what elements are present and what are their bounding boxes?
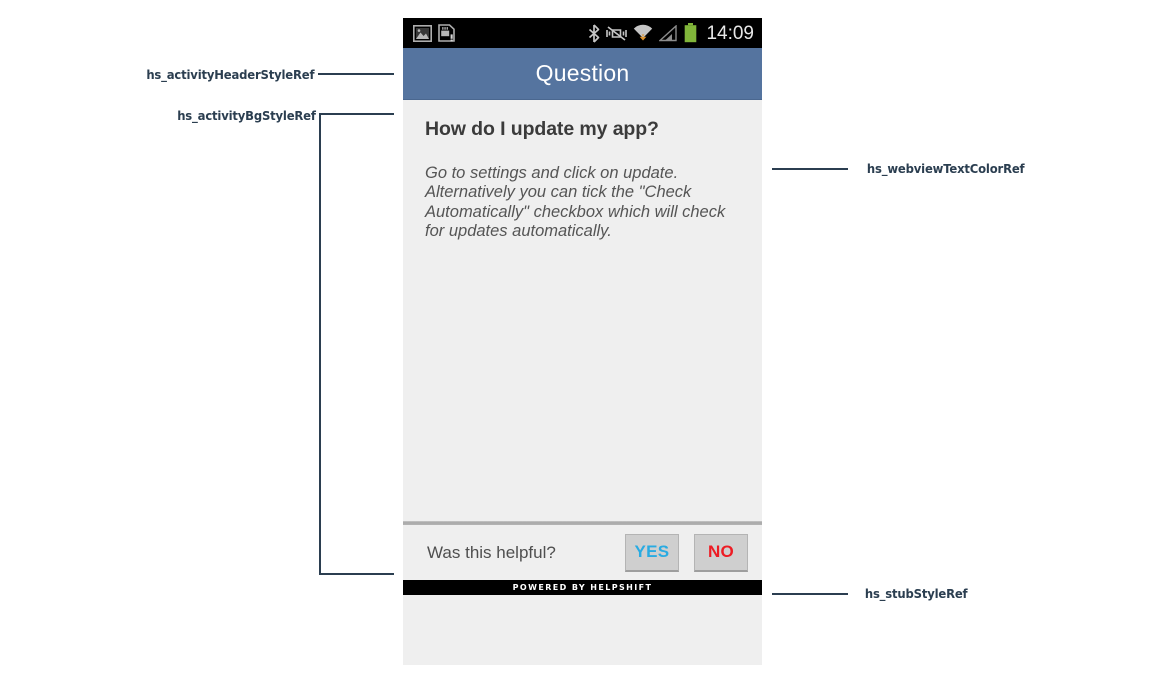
helpful-stub: Was this helpful? YES NO bbox=[403, 525, 762, 580]
annotation-label-hs-activitybgstyleref: hs_activityBgStyleRef bbox=[177, 108, 316, 123]
cellular-signal-icon bbox=[659, 25, 678, 42]
battery-icon bbox=[684, 23, 697, 43]
phone-screen: 14:09 Question How do I update my app? G… bbox=[403, 18, 762, 665]
page-title: Question bbox=[536, 60, 630, 87]
annotation-bracket-bottom-hs-activitybgstyleref bbox=[319, 573, 394, 575]
annotation-leader-hs-webviewtextcolorref bbox=[772, 168, 848, 170]
annotation-leader-hs-activityheaderstyleref bbox=[318, 73, 394, 75]
powered-by-label: POWERED BY HELPSHIFT bbox=[513, 584, 653, 592]
helpful-buttons: YES NO bbox=[625, 534, 748, 572]
gallery-image-icon bbox=[413, 25, 432, 42]
no-button[interactable]: NO bbox=[694, 534, 748, 572]
yes-button[interactable]: YES bbox=[625, 534, 679, 572]
vibrate-mute-icon bbox=[606, 25, 627, 42]
annotation-bracket-left-hs-activitybgstyleref bbox=[319, 113, 321, 575]
annotation-bracket-top-hs-activitybgstyleref bbox=[319, 113, 394, 115]
status-bar-clock: 14:09 bbox=[706, 24, 754, 43]
powered-by-bar: POWERED BY HELPSHIFT bbox=[403, 580, 762, 595]
sdcard-warning-icon bbox=[438, 24, 455, 42]
wifi-icon bbox=[633, 24, 653, 42]
activity-header: Question bbox=[403, 48, 762, 100]
annotation-leader-hs-stubstyleref bbox=[772, 593, 848, 595]
webview-content: How do I update my app? Go to settings a… bbox=[403, 100, 762, 521]
bluetooth-icon bbox=[588, 24, 600, 43]
annotation-label-hs-webviewtextcolorref: hs_webviewTextColorRef bbox=[867, 161, 1024, 176]
question-title: How do I update my app? bbox=[425, 118, 740, 141]
status-bar-right-icons: 14:09 bbox=[588, 23, 754, 43]
annotation-label-hs-stubstyleref: hs_stubStyleRef bbox=[865, 586, 968, 601]
status-bar-left-icons bbox=[413, 24, 455, 42]
annotation-label-hs-activityheaderstyleref: hs_activityHeaderStyleRef bbox=[146, 67, 314, 82]
answer-body: Go to settings and click on update. Alte… bbox=[425, 164, 731, 242]
helpful-prompt: Was this helpful? bbox=[427, 543, 625, 563]
status-bar: 14:09 bbox=[403, 18, 762, 48]
